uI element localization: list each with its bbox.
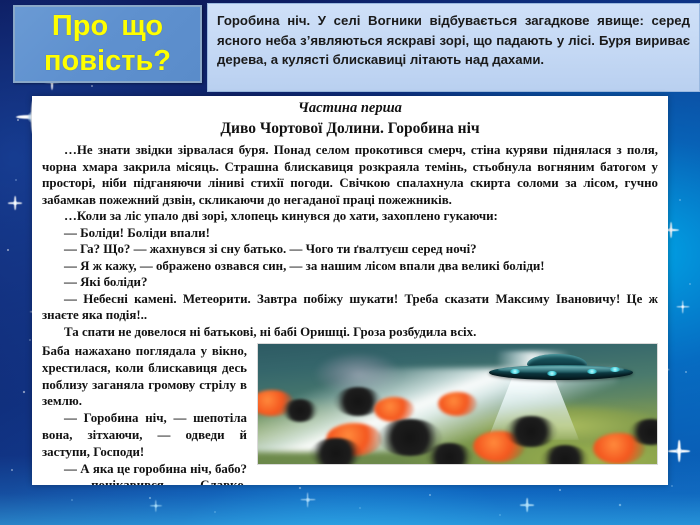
ufo-illustration [257,343,658,465]
sparkle-star [520,498,534,512]
body-paragraph: Та спати не довелося ні батькові, ні баб… [42,324,658,341]
body-paragraph: …Не знати звідки зірвалася буря. Понад с… [42,142,658,208]
question-title-text: Про що повість? [15,9,200,80]
part-label: Частина перша [42,100,658,117]
sparkle-star [300,492,315,507]
ufo-lamp [547,371,557,376]
book-page-content: Частина перша Диво Чортової Долини. Горо… [32,96,668,485]
body-paragraph: …Коли за ліс упало дві зорі, хлопець кин… [42,208,658,225]
body-paragraph: — А яка це горобина ніч, бабо? — поцікав… [42,461,247,485]
sparkle-star [8,196,22,210]
slide-canvas: Про що повість? Горобина ніч. У селі Вог… [0,0,700,525]
illustration-burr [282,399,318,422]
text-and-illustration-row: Баба нажахано поглядала у вікно, хрестил… [42,343,658,485]
sparkle-star [668,440,690,462]
body-paragraph: — Боліди! Боліди впали! [42,225,658,242]
body-paragraph: — Горобина ніч, — шепотіла вона, зітхаюч… [42,410,247,460]
body-paragraph: — Небесні камені. Метеорити. Завтра побі… [42,291,658,324]
sparkle-star [676,300,689,313]
body-paragraph: — Га? Що? — жахнувся зі сну батько. — Чо… [42,241,658,258]
summary-text-box: Горобина ніч. У селі Вогники відбуваєтьс… [207,3,700,92]
wrapped-text-column: Баба нажахано поглядала у вікно, хрестил… [42,343,253,485]
illustration-burr [310,438,362,465]
book-page-panel: Частина перша Диво Чортової Долини. Горо… [32,96,668,485]
question-title-box: Про що повість? [13,5,202,83]
ufo-icon [489,354,633,384]
sparkle-star [150,500,162,512]
ufo-lamp [610,367,620,372]
summary-text: Горобина ніч. У селі Вогники відбуваєтьс… [217,11,690,70]
ufo-lamp [510,369,520,374]
body-paragraph: — Які боліди? [42,274,658,291]
body-paragraph: Баба нажахано поглядала у вікно, хрестил… [42,343,247,410]
body-paragraph: — Я ж кажу, — ображено озвався син, — за… [42,258,658,275]
chapter-title: Диво Чортової Долини. Горобина ніч [42,120,658,138]
